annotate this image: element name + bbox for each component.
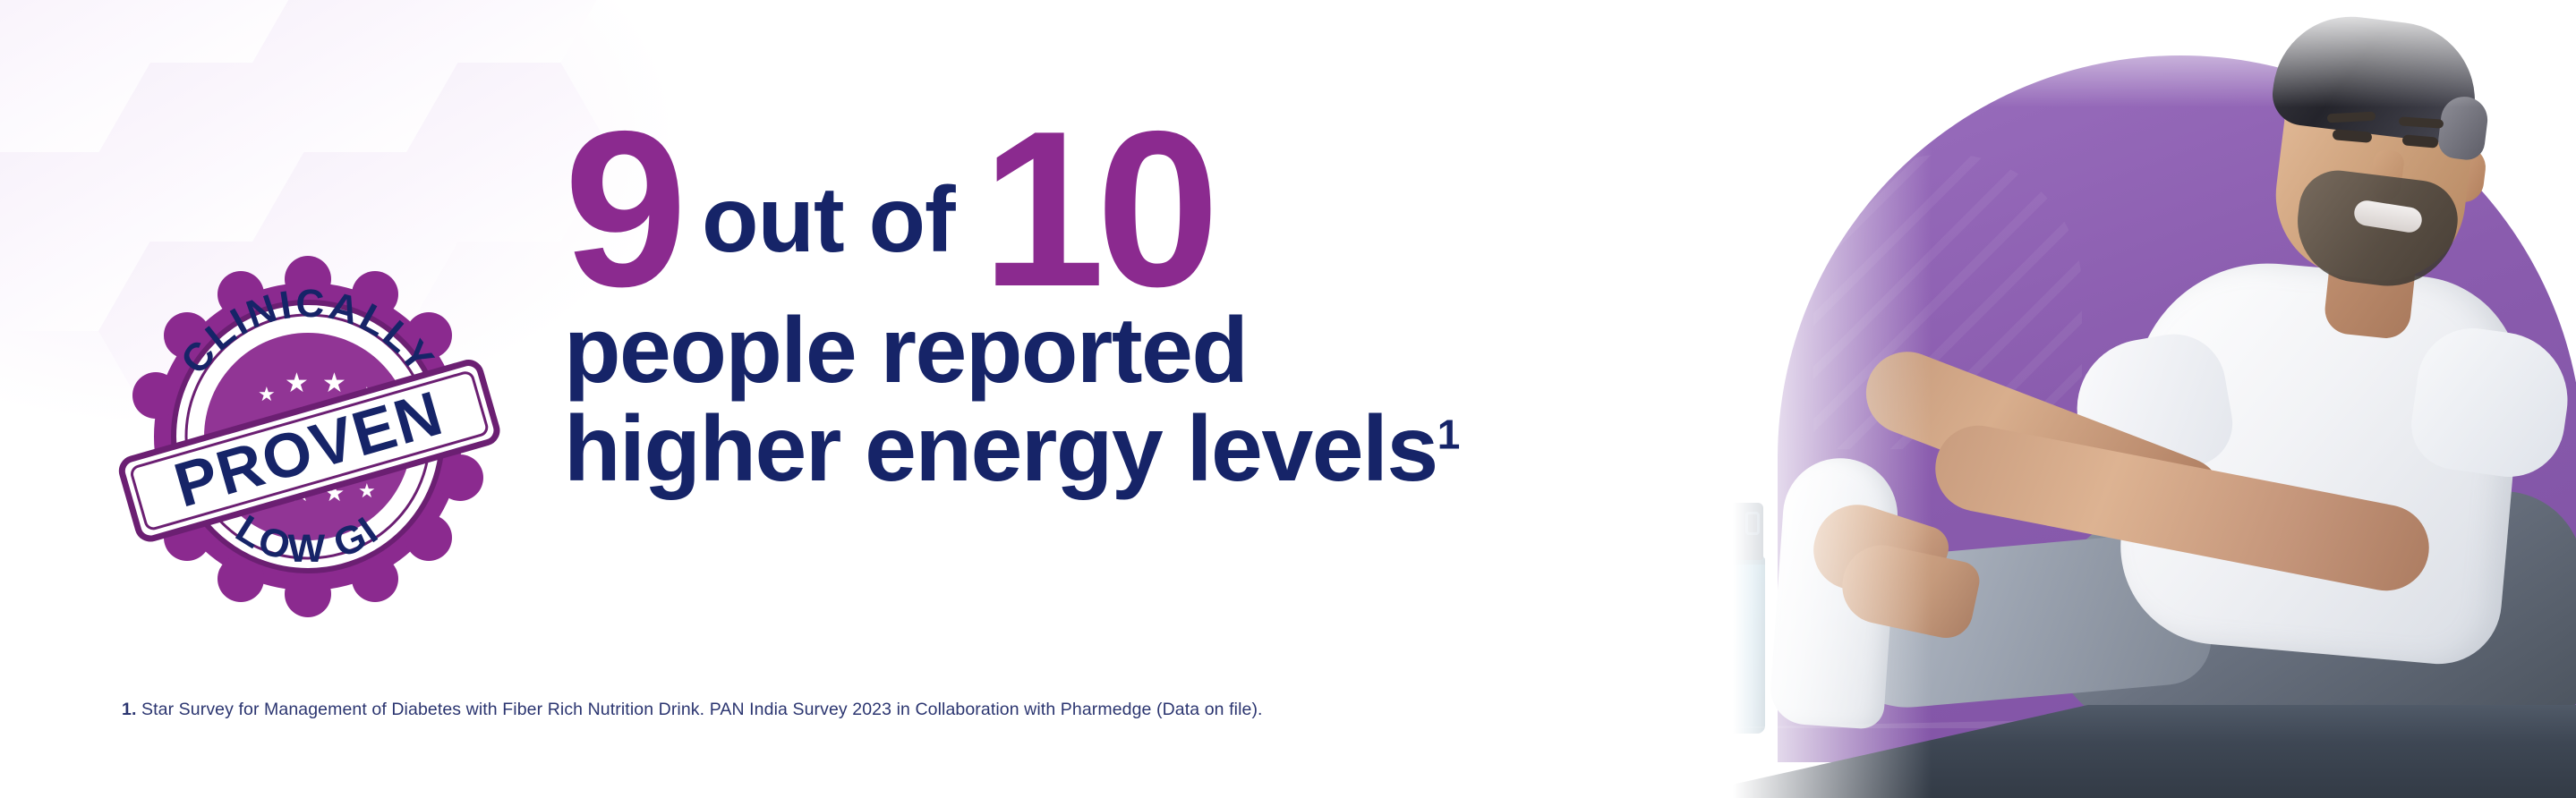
hexagon-shape: [252, 0, 458, 152]
hexagon-shape: [0, 0, 150, 152]
stat-numerator: 9: [564, 120, 682, 297]
headline-block: 9 out of 10 people reported higher energ…: [564, 106, 1647, 502]
svg-text:★: ★: [322, 368, 346, 399]
svg-text:★: ★: [258, 384, 276, 406]
bottle-body: [1708, 555, 1765, 734]
svg-text:★: ★: [358, 480, 376, 503]
lifestyle-photo: [1663, 0, 2576, 798]
hexagon-shape: [98, 0, 304, 63]
stat-connector: out of: [682, 174, 968, 293]
footnote-superscript: 1: [1437, 412, 1461, 458]
stretching-man-figure: [1663, 0, 2576, 798]
headline-line-1: 9 out of 10: [564, 106, 1647, 293]
hexagon-shape: [98, 63, 304, 242]
hexagon-shape: [406, 0, 612, 63]
footnote-marker: 1.: [122, 700, 136, 719]
promo-banner: CLINICALLY LOW GI ★ ★ ★ ★ ★ ★ ★ ★: [0, 0, 2576, 798]
headline-line-3: higher energy levels1: [564, 397, 1647, 501]
footnote-text: Star Survey for Management of Diabetes w…: [141, 700, 1263, 719]
stat-denominator: 10: [982, 120, 1211, 297]
svg-text:★: ★: [285, 368, 309, 399]
headline-line-3-text: higher energy levels: [564, 397, 1437, 501]
water-bottle: [1708, 503, 1765, 734]
clinically-proven-seal: CLINICALLY LOW GI ★ ★ ★ ★ ★ ★ ★ ★: [106, 234, 510, 619]
footnote: 1. Star Survey for Management of Diabete…: [122, 700, 1263, 720]
right-sleeve: [2406, 321, 2576, 484]
bottle-loop: [1745, 512, 1760, 535]
